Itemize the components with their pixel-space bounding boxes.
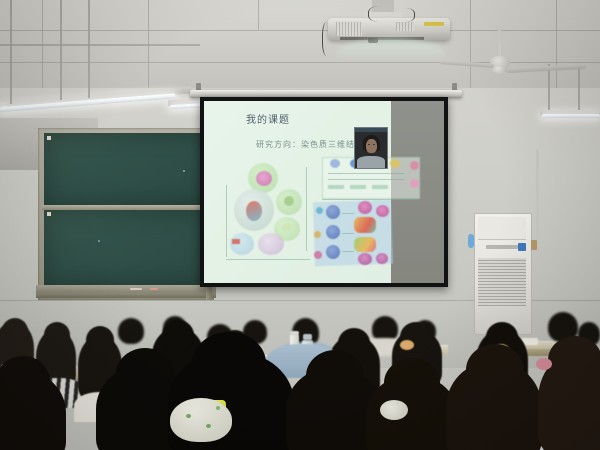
nucleus-detail [246,201,262,221]
ceiling-panel-line [42,0,43,92]
chalk-tray-lip [36,293,216,298]
flowchart-label [372,185,388,189]
flowchart-connector [328,173,404,174]
leopard-scrunchie [400,340,414,350]
ac-vent-grille [478,258,526,306]
student-head [2,318,28,344]
projector-cable [322,22,333,56]
scrunchie-pattern [186,414,191,418]
blackboard-clip [47,212,51,216]
nucleus-icon [326,245,340,259]
diagram-axis [226,259,310,260]
chromatin-burst [376,253,388,264]
ceiling-beam [0,44,200,46]
fan-hub [492,66,507,73]
ceiling-panel-line [0,62,600,63]
student-head [44,322,70,348]
diagram-connector [342,251,354,252]
screen-surface: 我的课题 研究方向：染色质三维结构 [204,101,444,283]
thermos-cap [290,331,299,335]
projector-cable [368,6,395,22]
presenter-eye [368,144,370,145]
flowchart-label [350,185,366,189]
ceiling-panel-line [556,0,557,92]
student-head [118,318,144,344]
projector-vent [336,22,362,36]
chalk-piece [150,288,158,290]
chromosome-cluster [284,196,294,206]
blackboard-panel-lower [44,210,209,285]
flowchart-node [330,159,340,168]
light-hanger-rod [88,0,90,98]
student-head [86,326,114,354]
projector-vent [396,22,414,31]
ceiling-panel-line [0,30,600,31]
diagram-bracket [306,167,307,251]
student-head-foreground [192,332,266,394]
fluorescent-tube-light [542,114,600,118]
diagram-connector [342,213,354,214]
light-hanger-rod [10,0,12,104]
student-head [548,336,600,384]
nucleus-icon-small [314,231,321,238]
white-green-scrunchie [170,398,232,442]
blackboard-mark [98,240,100,242]
projector-cable [392,8,415,22]
wall-socket [531,240,537,250]
ceiling-panel-line [470,0,471,92]
ceiling-panel-line [258,0,259,30]
bottle-cap [303,334,312,340]
flowchart-node [410,179,419,188]
projection-screen: 我的课题 研究方向：染色质三维结构 [200,97,448,287]
scrunchie-pattern [206,424,211,428]
presenter-eye [373,144,375,145]
presenter-face [366,139,377,153]
diagram-marker [232,239,240,244]
chromosome-cluster [256,171,272,186]
student-head [162,320,194,350]
cell-diagram-circle [230,233,254,255]
chromatin-loop [354,237,376,252]
ac-sticker [468,234,474,248]
student-head [0,356,50,406]
blackboard-panel-upper [44,133,209,205]
blackboard-mark [183,170,185,172]
flowchart-label [328,185,344,189]
ac-top-panel [478,217,526,240]
white-scrunchie [380,400,408,420]
slide-subtitle: 研究方向：染色质三维结构 [256,139,364,150]
flowchart-node [410,161,419,170]
diagram-connector [342,233,354,234]
ceiling-panel-line [148,0,149,92]
projector-label [424,22,444,26]
chromatin-loop [354,217,376,233]
chromatin-burst [376,205,389,217]
pink-hair-tie [536,358,552,370]
nucleus-icon-small [316,207,323,214]
classroom-photo: 我的课题 研究方向：染色质三维结构 [0,0,600,450]
student-head [116,348,174,400]
ceiling [0,0,600,92]
light-hanger-rod [60,0,62,100]
chromatin-burst [358,201,372,214]
light-hanger-rod [548,64,550,110]
chalk-piece [130,288,142,290]
ac-display-panel [486,245,518,249]
fan-drop-rod [498,30,501,58]
presentation-slide: 我的课题 研究方向：染色质三维结构 [204,101,444,283]
student-head [306,350,364,402]
light-hanger-rod [578,64,580,110]
diagram-bracket [226,185,227,257]
nucleus-icon [326,225,340,239]
nucleus-icon-small [314,251,322,259]
video-title-bar [355,128,387,132]
cell-diagram-circle [258,233,284,255]
presenter-shoulders [357,156,385,168]
slide-title: 我的课题 [246,111,290,126]
chromosome-cluster [282,223,292,232]
ac-brand-badge [518,243,526,251]
flowchart-node [390,159,400,168]
nucleus-icon [326,205,340,219]
chromatin-burst [358,253,372,265]
flowchart-connector [328,179,404,180]
scrunchie-pattern [216,406,220,410]
blackboard-clip [47,136,51,140]
presenter-video-feed[interactable] [354,127,388,169]
student-head [466,344,524,396]
